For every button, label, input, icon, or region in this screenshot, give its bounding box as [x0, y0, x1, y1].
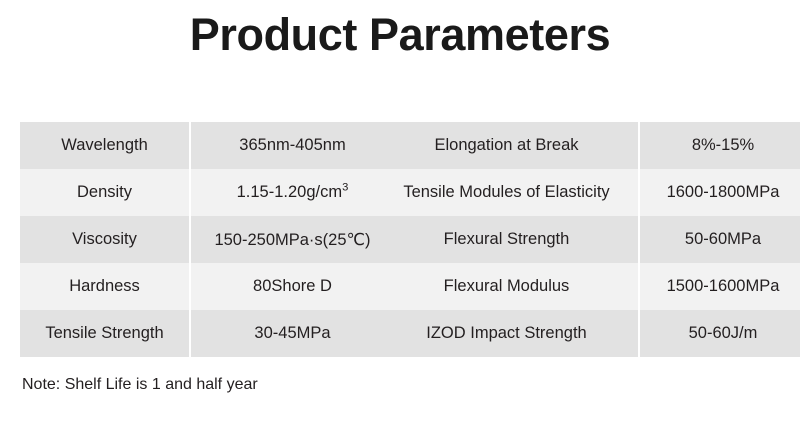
parameter-name: Elongation at Break: [375, 122, 639, 169]
parameter-name: IZOD Impact Strength: [375, 310, 639, 357]
parameter-value-superscript: 3: [342, 182, 348, 194]
product-parameters-page: Product Parameters Wavelength 365nm-405n…: [0, 0, 800, 442]
parameter-name: Density: [20, 169, 190, 216]
shelf-life-note: Note: Shelf Life is 1 and half year: [22, 374, 258, 396]
parameter-value: 30-45MPa: [190, 310, 394, 357]
table-row: Flexural Modulus 1500-1600MPa: [375, 263, 800, 310]
table-row: Density 1.15-1.20g/cm3: [20, 169, 394, 216]
parameter-name: Tensile Modules of Elasticity: [375, 169, 639, 216]
parameter-value: 50-60MPa: [639, 216, 800, 263]
table-row: Wavelength 365nm-405nm: [20, 122, 394, 169]
parameter-value: 50-60J/m: [639, 310, 800, 357]
table-row: Tensile Modules of Elasticity 1600-1800M…: [375, 169, 800, 216]
table-row: Viscosity 150-250MPa·s(25℃): [20, 216, 394, 263]
parameter-name: Viscosity: [20, 216, 190, 263]
table-row: Hardness 80Shore D: [20, 263, 394, 310]
table-row: Flexural Strength 50-60MPa: [375, 216, 800, 263]
parameter-value: 150-250MPa·s(25℃): [190, 216, 394, 263]
parameters-table-right: Elongation at Break 8%-15% Tensile Modul…: [375, 122, 800, 357]
parameter-name: Tensile Strength: [20, 310, 190, 357]
parameter-value: 1600-1800MPa: [639, 169, 800, 216]
parameter-value: 80Shore D: [190, 263, 394, 310]
parameter-value: 1.15-1.20g/cm3: [190, 169, 394, 216]
parameter-name: Wavelength: [20, 122, 190, 169]
table-row: Elongation at Break 8%-15%: [375, 122, 800, 169]
parameter-value: 1500-1600MPa: [639, 263, 800, 310]
parameter-value-text: 1.15-1.20g/cm: [237, 183, 342, 201]
table-row: Tensile Strength 30-45MPa: [20, 310, 394, 357]
parameter-name: Flexural Modulus: [375, 263, 639, 310]
parameter-name: Flexural Strength: [375, 216, 639, 263]
parameters-table-left: Wavelength 365nm-405nm Density 1.15-1.20…: [20, 122, 394, 357]
table-row: IZOD Impact Strength 50-60J/m: [375, 310, 800, 357]
parameter-value: 365nm-405nm: [190, 122, 394, 169]
parameter-value: 8%-15%: [639, 122, 800, 169]
parameter-name: Hardness: [20, 263, 190, 310]
page-title: Product Parameters: [0, 6, 800, 64]
